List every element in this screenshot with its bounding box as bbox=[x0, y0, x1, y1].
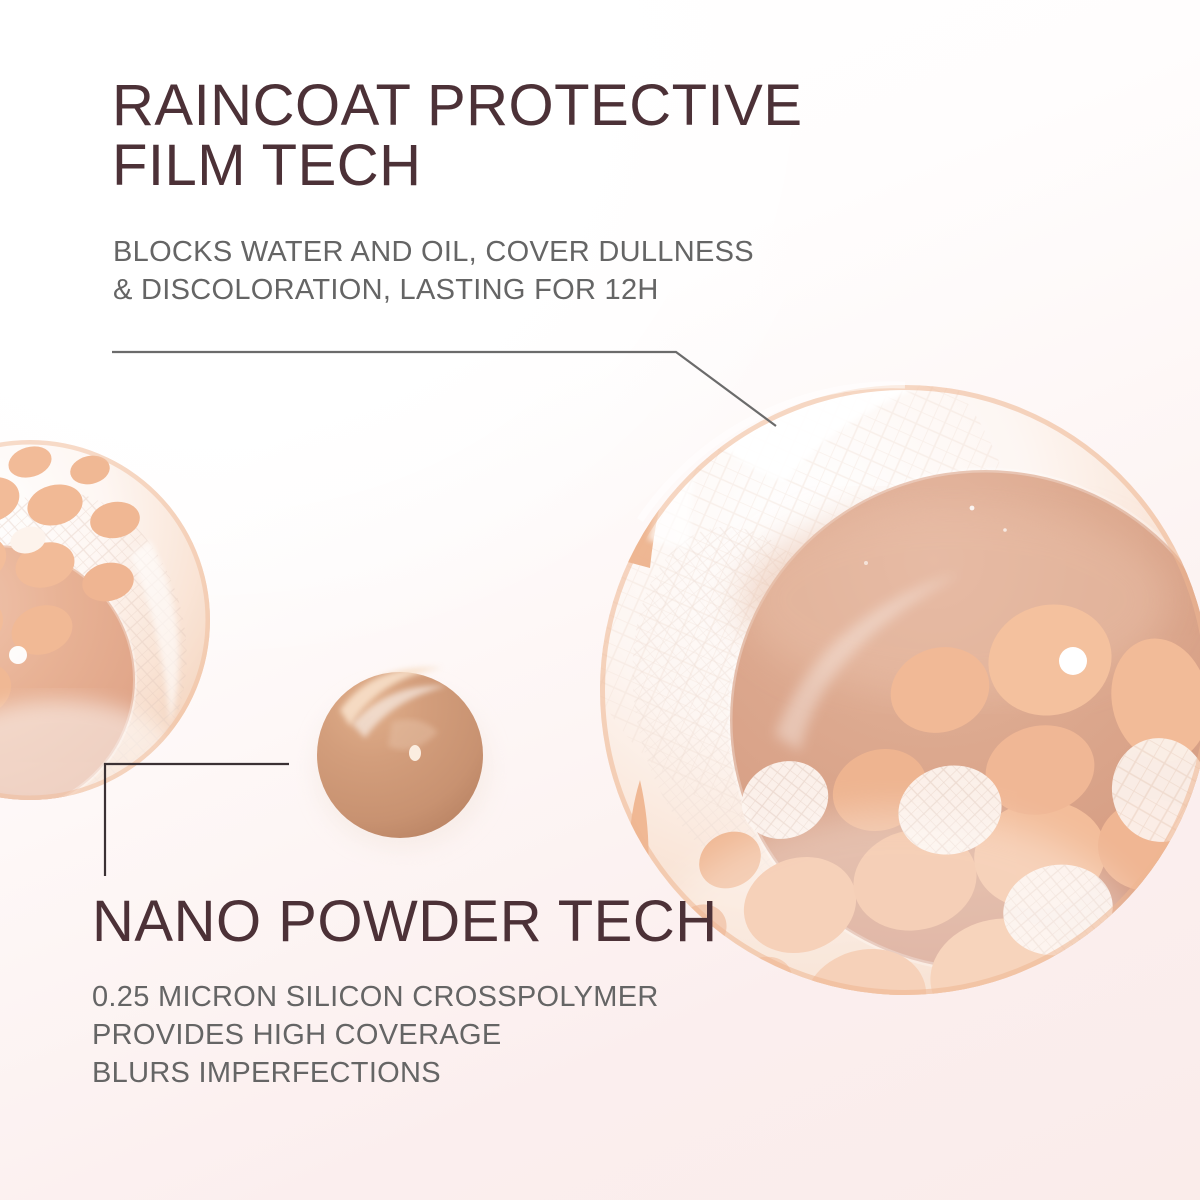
nano-description: 0.25 MICRON SILICON CROSSPOLYMER PROVIDE… bbox=[92, 978, 659, 1092]
raincoat-description: BLOCKS WATER AND OIL, COVER DULLNESS & D… bbox=[113, 233, 754, 309]
leader-line-nano bbox=[105, 764, 289, 876]
infographic-canvas: RAINCOAT PROTECTIVE FILM TECH BLOCKS WAT… bbox=[0, 0, 1200, 1200]
raincoat-headline: RAINCOAT PROTECTIVE FILM TECH bbox=[112, 76, 803, 196]
nano-headline: NANO POWDER TECH bbox=[92, 892, 718, 952]
leader-line-raincoat bbox=[112, 352, 776, 426]
